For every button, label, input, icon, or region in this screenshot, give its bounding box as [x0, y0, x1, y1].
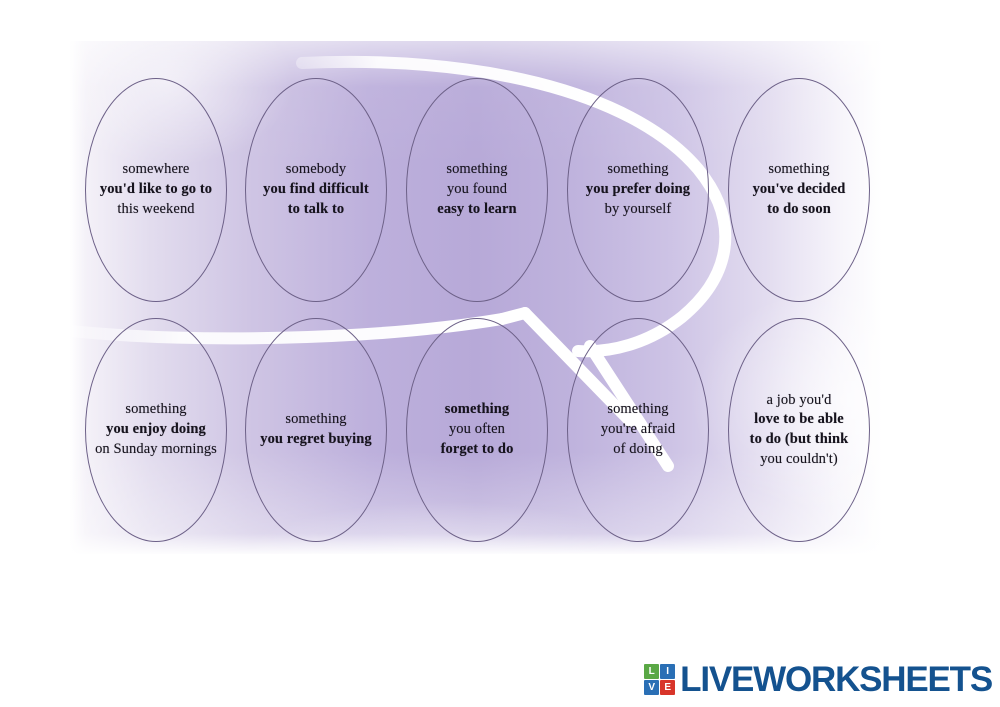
oval-text: something you enjoy doing on Sunday morn… — [89, 400, 223, 459]
oval-line: something — [446, 161, 507, 177]
oval-line: you enjoy doing — [106, 421, 206, 437]
oval-text: somebody you find difficult to talk to — [257, 160, 375, 219]
oval-line: you'd like to go to — [100, 181, 212, 197]
liveworksheets-wordmark: LIVEWORKSHEETS — [680, 662, 992, 697]
oval-line: something — [607, 161, 668, 177]
speaking-oval[interactable]: something you often forget to do — [406, 318, 548, 542]
oval-line: you've decided — [753, 181, 846, 197]
speaking-oval[interactable]: something you regret buying — [245, 318, 387, 542]
oval-text: something you're afraid of doing — [595, 400, 681, 459]
oval-text: a job you'd love to be able to do (but t… — [744, 391, 855, 470]
logo-tile-l: L — [644, 664, 659, 679]
oval-line: love to be able — [754, 411, 844, 427]
speaking-oval[interactable]: somebody you find difficult to talk to — [245, 78, 387, 302]
oval-line: you often — [449, 421, 505, 437]
oval-line: you couldn't) — [760, 451, 838, 467]
logo-tile-i: I — [660, 664, 675, 679]
oval-line: you prefer doing — [586, 181, 690, 197]
oval-line: on Sunday mornings — [95, 441, 217, 457]
oval-line: somewhere — [123, 161, 190, 177]
oval-text: something you regret buying — [254, 410, 378, 449]
oval-line: this weekend — [117, 201, 194, 217]
oval-text: something you prefer doing by yourself — [580, 160, 696, 219]
logo-tile-e: E — [660, 680, 675, 695]
oval-line: you regret buying — [260, 431, 372, 447]
oval-line: by yourself — [605, 201, 672, 217]
oval-line: something — [125, 401, 186, 417]
oval-line: something — [768, 161, 829, 177]
oval-line: to talk to — [288, 201, 345, 217]
oval-text: somewhere you'd like to go to this weeke… — [94, 160, 218, 219]
speaking-oval[interactable]: something you enjoy doing on Sunday morn… — [85, 318, 227, 542]
speaking-oval[interactable]: a job you'd love to be able to do (but t… — [728, 318, 870, 542]
oval-line: a job you'd — [767, 392, 832, 408]
oval-text: something you found easy to learn — [431, 160, 522, 219]
oval-line: something — [607, 401, 668, 417]
logo-tile-v: V — [644, 680, 659, 695]
oval-line: of doing — [613, 441, 663, 457]
liveworksheets-logo[interactable]: L I V E LIVEWORKSHEETS — [644, 662, 992, 697]
oval-line: you're afraid — [601, 421, 675, 437]
oval-line: to do soon — [767, 201, 831, 217]
liveworksheets-mark-icon: L I V E — [644, 664, 675, 695]
speaking-oval[interactable]: something you found easy to learn — [406, 78, 548, 302]
speaking-oval[interactable]: something you're afraid of doing — [567, 318, 709, 542]
worksheet-image: somewhere you'd like to go to this weeke… — [70, 41, 882, 554]
oval-line: forget to do — [441, 441, 514, 457]
oval-line: to do (but think — [750, 431, 849, 447]
oval-line: something — [285, 411, 346, 427]
oval-text: something you often forget to do — [435, 400, 520, 459]
oval-line: something — [445, 401, 510, 417]
speaking-oval[interactable]: somewhere you'd like to go to this weeke… — [85, 78, 227, 302]
speaking-oval[interactable]: something you prefer doing by yourself — [567, 78, 709, 302]
oval-line: somebody — [286, 161, 346, 177]
oval-line: easy to learn — [437, 201, 516, 217]
oval-text: something you've decided to do soon — [747, 160, 852, 219]
oval-line: you find difficult — [263, 181, 369, 197]
oval-line: you found — [447, 181, 507, 197]
speaking-oval[interactable]: something you've decided to do soon — [728, 78, 870, 302]
